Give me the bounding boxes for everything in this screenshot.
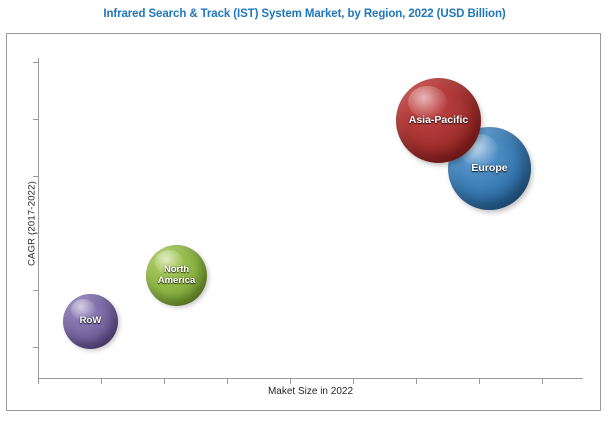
y-axis-title: CAGR (2017-2022) [27, 149, 38, 299]
y-axis-tick [33, 119, 38, 120]
x-axis-tick [353, 379, 354, 384]
x-axis-tick [101, 379, 102, 384]
x-axis-tick [227, 379, 228, 384]
y-axis-tick [33, 62, 38, 63]
x-axis-title: Maket Size in 2022 [38, 386, 583, 397]
x-axis-tick [542, 379, 543, 384]
bubble-label-north-america: North America [146, 265, 207, 286]
bubble-label-europe: Europe [469, 163, 509, 174]
y-axis-tick [33, 347, 38, 348]
bubble-label-asia-pacific: Asia-Pacific [407, 115, 471, 126]
x-axis-tick [479, 379, 480, 384]
bubble-asia-pacific[interactable]: Asia-Pacific [396, 78, 481, 163]
bubble-row[interactable]: RoW [63, 294, 118, 349]
x-axis-line [38, 378, 583, 379]
x-axis-tick [164, 379, 165, 384]
x-axis-tick [38, 379, 39, 384]
plot-area: CAGR (2017-2022) Maket Size in 2022 Asia… [0, 0, 609, 422]
x-axis-tick [416, 379, 417, 384]
x-axis-tick [290, 379, 291, 384]
bubble-north-america[interactable]: North America [146, 245, 207, 306]
bubble-label-row: RoW [78, 316, 104, 326]
y-axis-line [38, 58, 39, 379]
